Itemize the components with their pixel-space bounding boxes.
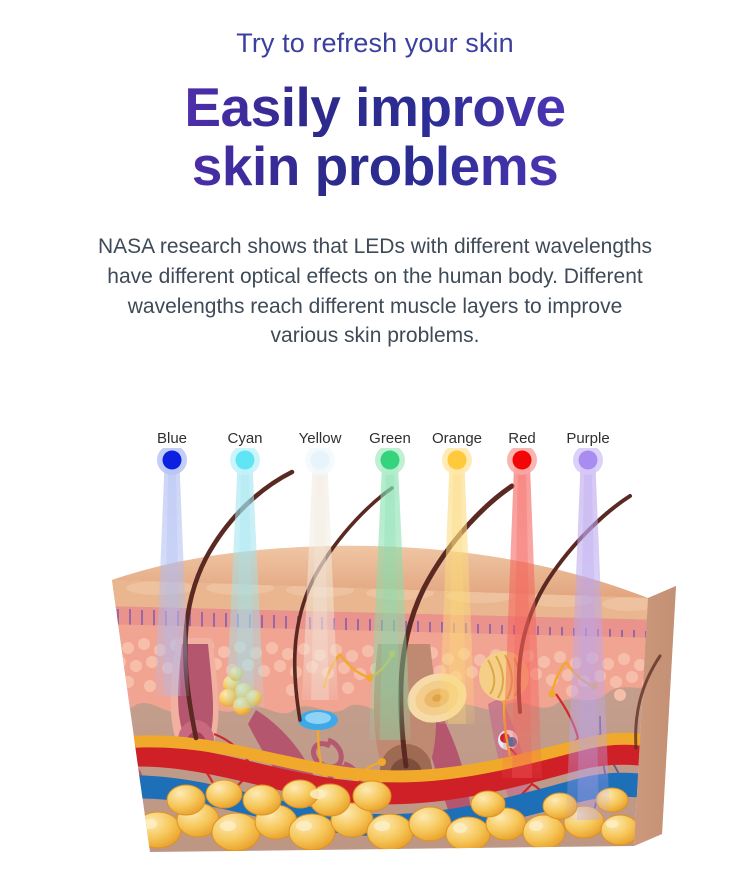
led-label-green: Green	[369, 428, 411, 450]
eyebrow-text: Try to refresh your skin	[0, 28, 750, 59]
led-label-orange: Orange	[432, 428, 482, 450]
led-dot-red[interactable]	[513, 451, 532, 470]
led-dot-blue[interactable]	[163, 451, 182, 470]
led-emitters	[157, 448, 603, 475]
headline-line-2: skin problems	[0, 137, 750, 196]
led-label-purple: Purple	[566, 428, 609, 450]
body-paragraph: NASA research shows that LEDs with diffe…	[95, 232, 655, 351]
led-dot-orange[interactable]	[448, 451, 467, 470]
page-title: Easily improve skin problems	[0, 78, 750, 196]
promo-page: Try to refresh your skin Easily improve …	[0, 0, 750, 876]
led-label-red: Red	[508, 428, 536, 450]
skin-cross-section-diagram	[0, 448, 750, 876]
tactile-disc	[298, 710, 338, 730]
led-label-row: BlueCyanYellowGreenOrangeRedPurple	[0, 428, 750, 450]
headline-line-1: Easily improve	[0, 78, 750, 137]
led-label-cyan: Cyan	[227, 428, 262, 450]
led-dot-purple[interactable]	[579, 451, 598, 470]
led-label-yellow: Yellow	[299, 428, 342, 450]
led-dot-green[interactable]	[381, 451, 400, 470]
led-dot-yellow[interactable]	[311, 451, 330, 470]
led-label-blue: Blue	[157, 428, 187, 450]
led-dot-cyan[interactable]	[236, 451, 255, 470]
